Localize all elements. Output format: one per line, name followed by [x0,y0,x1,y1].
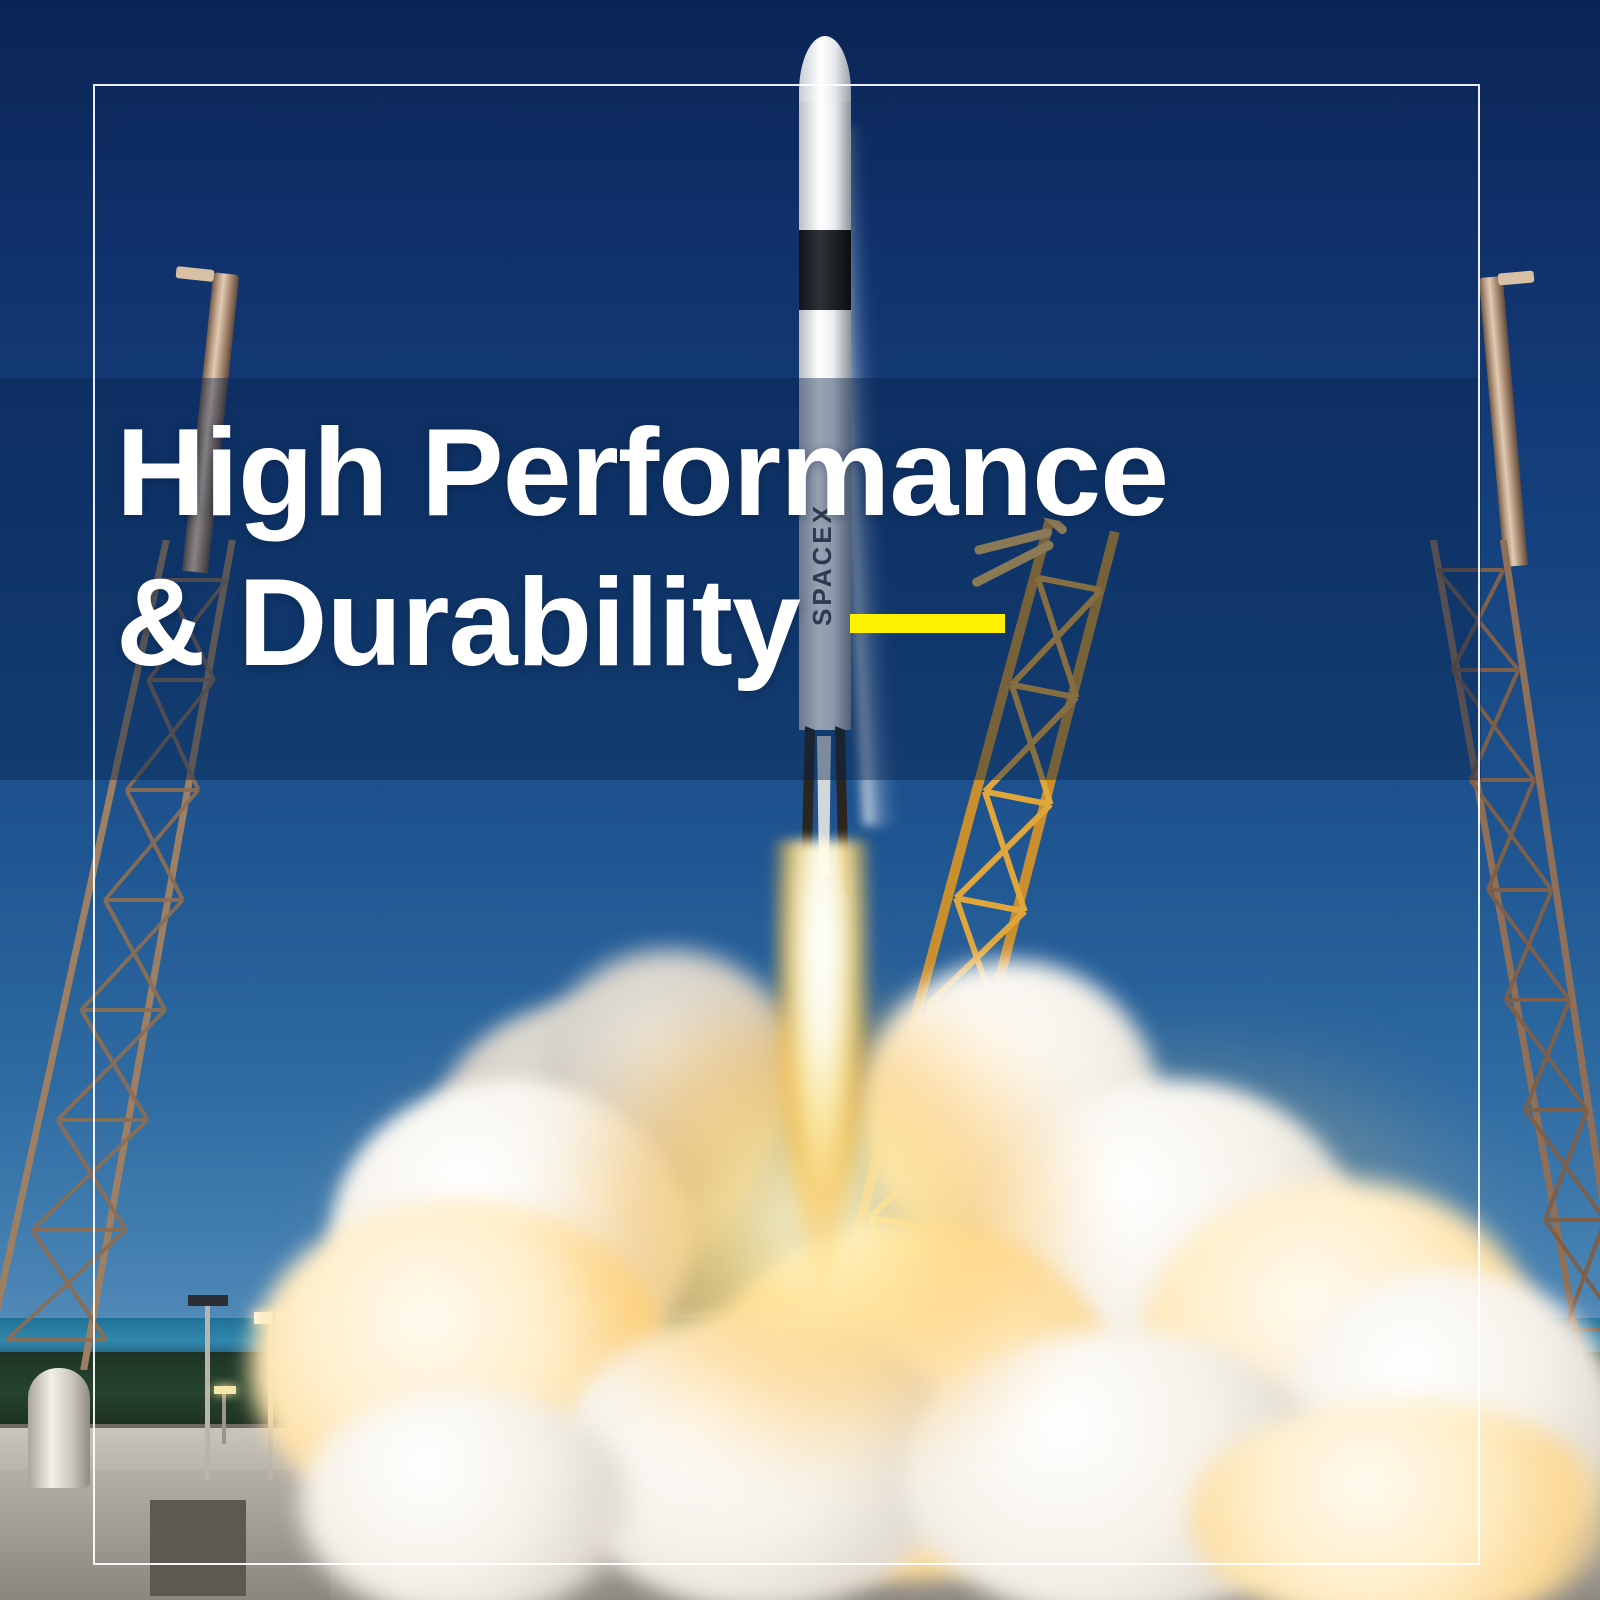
headline-line-2-row: & Durability [116,548,1476,698]
storage-tank [28,1368,90,1488]
rocket-nose-cone [799,36,851,108]
hero-banner: SPACEX [0,0,1600,1600]
rocket-upper-body [799,102,851,232]
light-pole-head [188,1295,228,1306]
light-pole-small-lamp [214,1386,236,1394]
light-pole [205,1300,210,1480]
accent-dash [850,614,1005,633]
headline-line-2: & Durability [116,548,800,698]
rocket-launch-photo: SPACEX [0,0,1600,1600]
headline-line-1: High Performance [116,398,1476,548]
exhaust-flame-core [770,840,874,1420]
light-pole-small [222,1390,226,1444]
hero-headline: High Performance & Durability [116,398,1476,698]
rocket-black-band [799,230,851,312]
pad-vent [150,1500,246,1596]
